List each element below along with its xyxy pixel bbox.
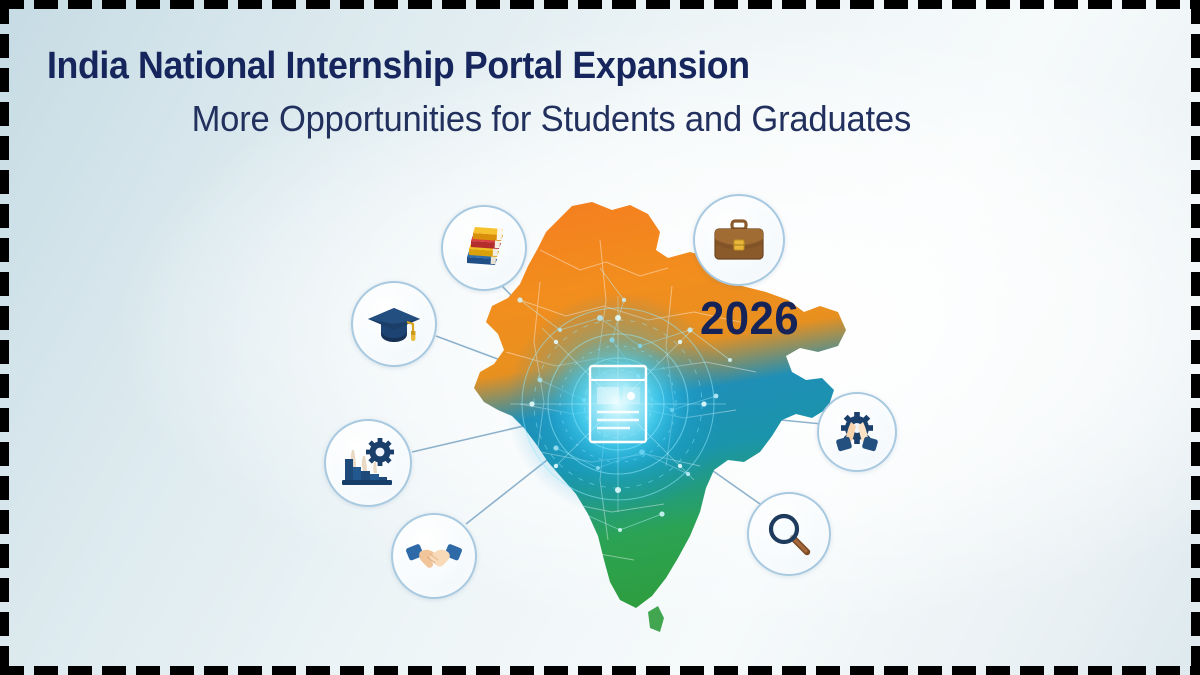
hands-gear-icon [831, 408, 883, 456]
node-skills-training[interactable] [817, 392, 897, 472]
digital-portal-hub [506, 292, 730, 516]
island-shape [648, 606, 664, 632]
handshake-icon [405, 536, 463, 576]
briefcase-icon [710, 213, 768, 267]
portal-document-icon [590, 366, 646, 442]
page-title: India National Internship Portal Expansi… [0, 46, 1015, 87]
node-education-books[interactable] [441, 205, 527, 291]
graduation-cap-icon [366, 300, 422, 348]
node-jobs-briefcase[interactable] [693, 194, 785, 286]
heading-block: India National Internship Portal Expansi… [0, 46, 1080, 139]
node-graduation[interactable] [351, 281, 437, 367]
page-subtitle: More Opportunities for Students and Grad… [43, 99, 1080, 139]
node-industry[interactable] [324, 419, 412, 507]
poster-canvas: India National Internship Portal Expansi… [0, 0, 1200, 675]
magnifier-icon [764, 509, 814, 559]
node-partnership[interactable] [391, 513, 477, 599]
factory-gear-icon [339, 437, 397, 489]
books-icon [457, 221, 511, 275]
node-search-jobs[interactable] [747, 492, 831, 576]
year-badge: 2026 [700, 291, 799, 345]
